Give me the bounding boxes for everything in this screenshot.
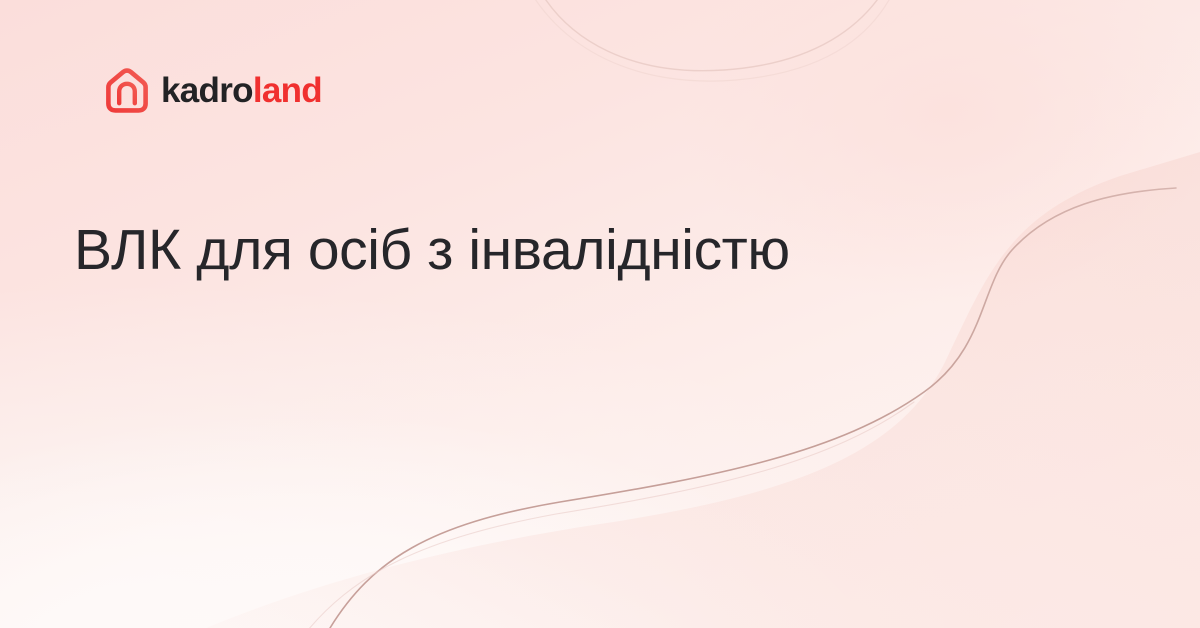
brand-wordmark: kadroland xyxy=(161,73,322,108)
brand-logo[interactable]: kadroland xyxy=(106,68,322,113)
brand-wordmark-accent: land xyxy=(253,71,322,110)
brand-wordmark-dark: kadro xyxy=(161,71,253,110)
kadroland-house-logo-icon xyxy=(106,68,148,113)
top-arc-line xyxy=(534,0,892,71)
top-arc-echo-line xyxy=(520,0,902,81)
page-title: ВЛК для осіб з інвалідністю xyxy=(74,218,790,283)
og-share-card: kadroland ВЛК для осіб з інвалідністю xyxy=(0,0,1200,628)
